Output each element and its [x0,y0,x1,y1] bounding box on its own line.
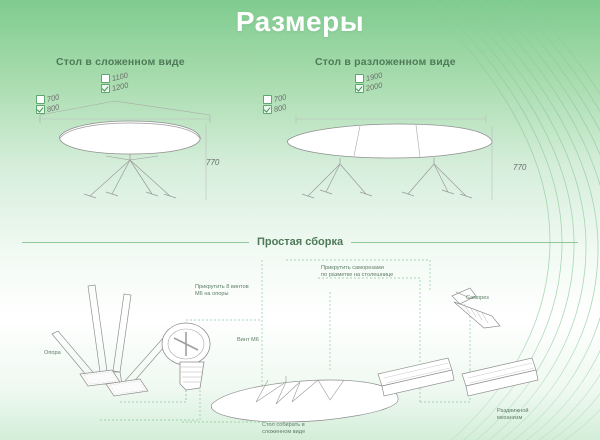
step-screws-line2: М6 на опоры [195,290,228,298]
section-title-unfolded: Стол в разложенном виде [315,56,456,68]
screw-m6-illustration [162,323,210,390]
assembly-section-header: Простая сборка [0,236,600,248]
label-slide-mechanism-line2: механизм [497,414,522,422]
label-self-tapping-screw: Саморез [466,294,489,302]
step-assemble-line2: сложенном виде [262,428,305,436]
poster-page: Размеры Стол в сложенном виде 700 800 11… [0,0,600,440]
step-tabletop-line2: по разметке на столешнице [321,271,393,279]
divider-left [22,242,249,243]
table-diagram-unfolded [248,68,533,208]
label-screw-m6: Винт М6 [237,336,259,344]
page-title: Размеры [0,6,600,38]
table-diagram-folded [20,68,275,208]
section-title-folded: Стол в сложенном виде [56,56,185,68]
divider-right [351,242,578,243]
label-support: Опора [44,349,61,357]
assembly-title: Простая сборка [257,236,343,248]
